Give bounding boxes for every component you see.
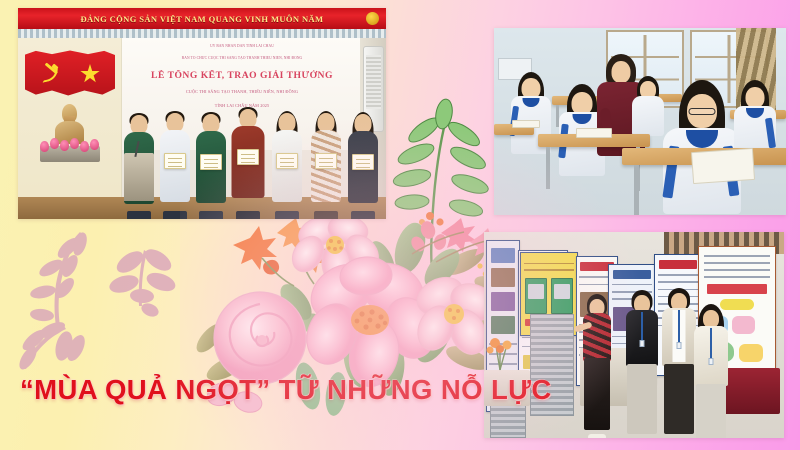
classroom-students-photo bbox=[494, 28, 786, 215]
backdrop-org-line1: ỦY BAN NHÂN DÂN TỈNH LAI CHÂU bbox=[122, 44, 362, 50]
worksheet bbox=[512, 120, 540, 128]
eyeglasses-icon bbox=[689, 108, 716, 115]
national-emblem-icon bbox=[366, 12, 379, 25]
award-recipients-row bbox=[122, 101, 362, 219]
person-student-4 bbox=[270, 113, 304, 219]
podium bbox=[124, 153, 154, 201]
desk-leg bbox=[634, 165, 639, 215]
person-student-6 bbox=[346, 114, 380, 219]
student-visitor-1 bbox=[624, 290, 660, 438]
person-student-2 bbox=[158, 113, 192, 219]
award-ceremony-photo: ĐẢNG CỘNG SẢN VIỆT NAM QUANG VINH MUÔN N… bbox=[18, 8, 386, 219]
science-fair-exhibition-photo bbox=[484, 232, 784, 438]
person-official bbox=[230, 109, 266, 219]
backdrop-event-title: LỄ TỔNG KẾT, TRAO GIẢI THƯỞNG bbox=[122, 70, 362, 81]
flags-group bbox=[25, 50, 115, 96]
flower-arrangement bbox=[38, 138, 104, 154]
person-student-5 bbox=[308, 113, 344, 219]
backdrop-org-line2: BAN TỔ CHỨC CUỘC THI SÁNG TẠO THANH THIẾ… bbox=[122, 56, 362, 62]
red-flag-shape bbox=[25, 50, 115, 96]
open-booklet bbox=[691, 148, 755, 184]
backdrop-contest-line: CUỘC THI SÁNG TẠO THANH, THIẾU NIÊN, NHI… bbox=[122, 88, 362, 95]
student-visitor-3 bbox=[692, 304, 730, 438]
left-leaves-decoration bbox=[18, 222, 188, 372]
presenter-in-ethnic-dress bbox=[580, 294, 614, 438]
person-student-3 bbox=[194, 114, 228, 219]
flag-wall-panel bbox=[18, 38, 122, 219]
desk-leg bbox=[546, 147, 550, 189]
ceiling-frieze bbox=[18, 29, 386, 38]
party-slogan-text: ĐẢNG CỘNG SẢN VIỆT NAM QUANG VINH MUÔN N… bbox=[80, 14, 323, 24]
party-slogan-banner: ĐẢNG CỘNG SẢN VIỆT NAM QUANG VINH MUÔN N… bbox=[18, 8, 386, 29]
hammer-sickle-icon bbox=[41, 65, 63, 84]
slide-canvas: ĐẢNG CỘNG SẢN VIỆT NAM QUANG VINH MUÔN N… bbox=[0, 0, 800, 450]
worksheet bbox=[576, 128, 612, 138]
slide-headline: “MÙA QUẢ NGỌT” TỮ NHỮNG NỖ LỰC bbox=[20, 374, 480, 406]
